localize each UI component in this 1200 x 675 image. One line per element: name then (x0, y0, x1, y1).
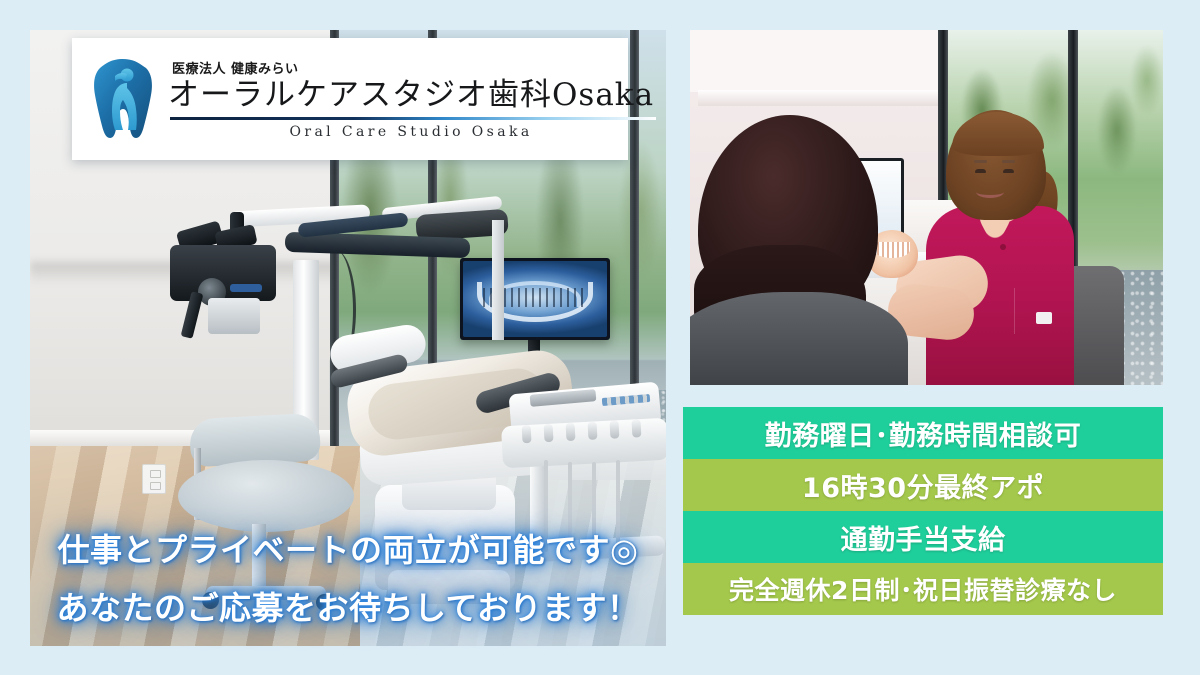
wall-outlet (142, 464, 166, 494)
logo-text-block: 医療法人 健康みらい オーラルケアスタジオ歯科Osaka Oral Care S… (168, 58, 654, 141)
benefit-bar: 16時30分最終アポ (683, 459, 1163, 511)
microscope-camera-module (208, 298, 260, 334)
stool-seat (178, 460, 354, 532)
corporate-prefix: 医療法人 健康みらい (172, 58, 299, 77)
eye (1003, 169, 1014, 173)
benefit-bar: 勤務曜日･勤務時間相談可 (683, 407, 1163, 459)
benefit-bar: 完全週休2日制･祝日振替診療なし (683, 563, 1163, 615)
ceiling-panel (690, 30, 950, 92)
smile (976, 186, 1004, 198)
caption-line-1: 仕事とプライベートの両立が可能です◎ (30, 525, 666, 571)
wall-shelf (698, 90, 943, 106)
clinic-logo-card: 医療法人 健康みらい オーラルケアスタジオ歯科Osaka Oral Care S… (72, 38, 628, 160)
name-badge (1036, 312, 1052, 324)
xray-monitor (460, 258, 610, 340)
eyebrow (974, 160, 987, 163)
eye (975, 169, 986, 173)
microscope-accent (230, 284, 262, 292)
caption-line-2: あなたのご応募をお待ちしております！ (30, 583, 666, 629)
panoramic-xray-image (463, 261, 607, 337)
operating-light-post (492, 220, 504, 340)
scrubs-pocket (1014, 288, 1058, 334)
hygienist-consultation-photo (690, 30, 1163, 385)
benefit-bar: 通勤手当支給 (683, 511, 1163, 563)
logo-divider (170, 117, 656, 120)
scrubs-button (1000, 244, 1006, 250)
banner-canvas: 仕事とプライベートの両立が可能です◎ あなたのご応募をお待ちしております！ (0, 0, 1200, 675)
clinic-name: オーラルケアスタジオ歯科Osaka (168, 78, 654, 113)
tooth-with-person-logo-icon (92, 56, 154, 142)
benefit-bar-list: 勤務曜日･勤務時間相談可 16時30分最終アポ 通勤手当支給 完全週休2日制･祝… (683, 407, 1163, 615)
stool-backrest (189, 413, 321, 468)
clinic-name-english: Oral Care Studio Osaka (289, 124, 532, 140)
patient-shoulders (690, 292, 908, 385)
eyebrow (1002, 160, 1015, 163)
dental-model-teeth (874, 242, 910, 258)
